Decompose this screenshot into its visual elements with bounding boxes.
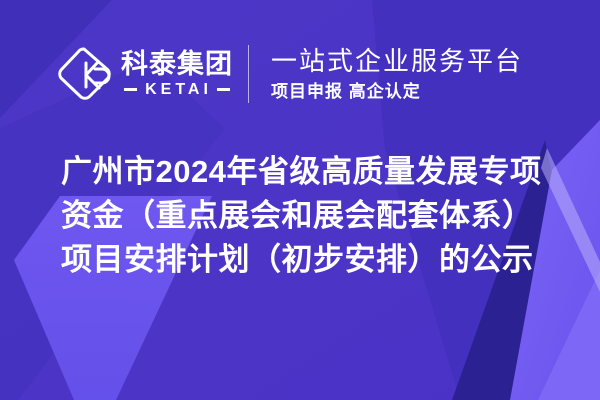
headline-line-1: 广州市2024年省级高质量发展专项: [61, 150, 561, 194]
logo-brand-cn: 科泰集团: [121, 50, 233, 78]
headline-line-2: 资金（重点展会和展会配套体系）: [61, 194, 561, 238]
logo-en-row: KETAI: [121, 82, 233, 98]
ketai-diamond-monogram-icon: [56, 45, 112, 103]
slogan-secondary: 项目申报 高企认定: [271, 82, 523, 102]
headline-line-3: 项目安排计划（初步安排）的公示: [61, 238, 561, 282]
promotional-banner: 科泰集团 KETAI 一站式企业服务平台 项目申报 高企认定 广州市2024年省…: [0, 0, 600, 400]
logo-dash-right-icon: [217, 88, 230, 91]
background-triangle-right-bright: [538, 270, 600, 400]
header-divider: [248, 45, 249, 103]
logo-brand-en: KETAI: [137, 82, 217, 98]
company-logo: 科泰集团 KETAI: [56, 45, 233, 103]
logo-dash-left-icon: [124, 88, 137, 91]
slogan-block: 一站式企业服务平台 项目申报 高企认定: [271, 47, 523, 101]
slogan-primary: 一站式企业服务平台: [271, 47, 523, 77]
logo-wordmark: 科泰集团 KETAI: [121, 50, 233, 97]
banner-header: 科泰集团 KETAI 一站式企业服务平台 项目申报 高企认定: [0, 36, 600, 112]
headline: 广州市2024年省级高质量发展专项 资金（重点展会和展会配套体系） 项目安排计划…: [61, 150, 561, 282]
